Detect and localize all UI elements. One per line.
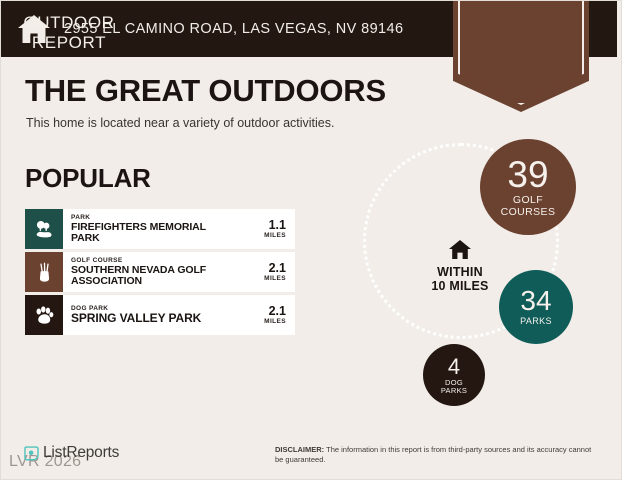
poi-distance-value: 2.1 bbox=[269, 305, 286, 318]
poi-distance-unit: MILES bbox=[264, 318, 286, 326]
stat-label: GOLF COURSES bbox=[501, 195, 556, 217]
within-line-1: WITHIN bbox=[406, 265, 514, 279]
popular-list: PARK FIREFIGHTERS MEMORIAL PARK 1.1 MILE… bbox=[25, 209, 295, 338]
listreports-logo-icon bbox=[23, 445, 40, 462]
badge-fill bbox=[461, 1, 581, 101]
home-icon bbox=[448, 239, 472, 260]
listreports-logo-text: ListReports bbox=[43, 444, 119, 462]
disclaimer-label: DISCLAIMER: bbox=[275, 445, 324, 454]
stat-bubble-dog-parks: 4 DOG PARKS bbox=[423, 344, 485, 406]
within-radius-label: WITHIN 10 MILES bbox=[406, 239, 514, 293]
poi-icon-tile bbox=[25, 209, 63, 249]
stat-value: 34 bbox=[520, 287, 551, 315]
outdoor-report-badge bbox=[453, 1, 589, 112]
badge-line-1: OUTDOOR bbox=[1, 13, 137, 33]
stat-value: 4 bbox=[448, 356, 460, 378]
stat-value: 39 bbox=[507, 156, 548, 193]
page-title: THE GREAT OUTDOORS bbox=[25, 73, 386, 109]
poi-icon-tile bbox=[25, 295, 63, 335]
list-item[interactable]: DOG PARK SPRING VALLEY PARK 2.1 MILES bbox=[25, 295, 295, 335]
poi-text: DOG PARK SPRING VALLEY PARK bbox=[63, 295, 237, 335]
paw-print-icon bbox=[33, 304, 55, 326]
poi-distance-unit: MILES bbox=[264, 232, 286, 240]
stat-bubble-golf-courses: 39 GOLF COURSES bbox=[480, 139, 576, 235]
poi-distance: 1.1 MILES bbox=[237, 209, 295, 249]
poi-distance-value: 2.1 bbox=[269, 262, 286, 275]
badge-text: OUTDOOR REPORT bbox=[1, 13, 137, 53]
section-title-popular: POPULAR bbox=[25, 163, 151, 194]
stat-label: DOG PARKS bbox=[441, 379, 467, 395]
poi-name: SPRING VALLEY PARK bbox=[71, 313, 237, 325]
stat-bubble-parks: 34 PARKS bbox=[499, 270, 573, 344]
poi-text: GOLF COURSE SOUTHERN NEVADA GOLF ASSOCIA… bbox=[63, 252, 237, 292]
within-line-2: 10 MILES bbox=[406, 279, 514, 293]
list-item[interactable]: PARK FIREFIGHTERS MEMORIAL PARK 1.1 MILE… bbox=[25, 209, 295, 249]
poi-name: FIREFIGHTERS MEMORIAL PARK bbox=[71, 222, 237, 245]
listreports-logo: ListReports bbox=[23, 444, 119, 462]
poi-distance-unit: MILES bbox=[264, 275, 286, 283]
outdoor-report-page: 2955 EL CAMINO ROAD, LAS VEGAS, NV 89146… bbox=[0, 0, 622, 480]
poi-text: PARK FIREFIGHTERS MEMORIAL PARK bbox=[63, 209, 237, 249]
poi-icon-tile bbox=[25, 252, 63, 292]
park-trees-icon bbox=[33, 218, 55, 240]
badge-line-2: REPORT bbox=[1, 33, 137, 53]
poi-distance: 2.1 MILES bbox=[237, 295, 295, 335]
page-subtitle: This home is located near a variety of o… bbox=[26, 116, 334, 130]
poi-name: SOUTHERN NEVADA GOLF ASSOCIATION bbox=[71, 265, 237, 288]
summary-visualization: WITHIN 10 MILES 39 GOLF COURSES 34 PARKS… bbox=[353, 129, 622, 424]
list-item[interactable]: GOLF COURSE SOUTHERN NEVADA GOLF ASSOCIA… bbox=[25, 252, 295, 292]
poi-distance-value: 1.1 bbox=[269, 219, 286, 232]
golf-clubs-icon bbox=[34, 262, 55, 283]
stat-label: PARKS bbox=[520, 317, 552, 326]
poi-distance: 2.1 MILES bbox=[237, 252, 295, 292]
disclaimer: DISCLAIMER: The information in this repo… bbox=[275, 445, 595, 465]
